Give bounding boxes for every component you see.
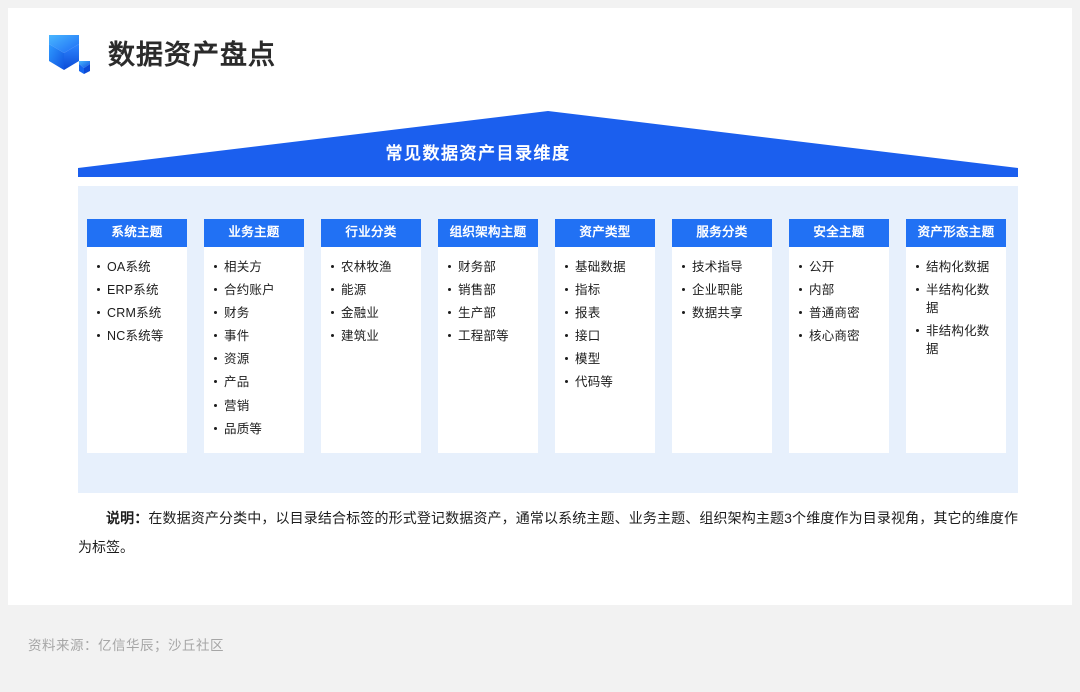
- list-item: 工程部等: [447, 327, 531, 345]
- list-item: 财务部: [447, 258, 531, 276]
- slide-card: 数据资产盘点 常见数据资产目录维度 系统主题 OA系统 ERP系统: [8, 8, 1072, 605]
- list-item: 农林牧渔: [330, 258, 414, 276]
- dimension-card-business[interactable]: 业务主题 相关方 合约账户 财务 事件 资源 产品 营销 品质等: [204, 219, 304, 453]
- dimensions-panel: 系统主题 OA系统 ERP系统 CRM系统 NC系统等 业务主题: [78, 186, 1018, 493]
- list-item: 金融业: [330, 304, 414, 322]
- list-item: ERP系统: [96, 281, 180, 299]
- list-item: 相关方: [213, 258, 297, 276]
- list-item: 普通商密: [798, 304, 882, 322]
- banner-title: 常见数据资产目录维度: [8, 145, 948, 162]
- dimension-card-header: 业务主题: [204, 219, 304, 247]
- dimension-card-header: 行业分类: [321, 219, 421, 247]
- slide-header: 数据资产盘点: [48, 33, 276, 77]
- list-item: 基础数据: [564, 258, 648, 276]
- note-paragraph: 说明：在数据资产分类中，以目录结合标签的形式登记数据资产，通常以系统主题、业务主…: [78, 504, 1018, 561]
- list-item: 数据共享: [681, 304, 765, 322]
- list-item: 非结构化数据: [915, 322, 999, 358]
- dimension-card-body: 公开 内部 普通商密 核心商密: [789, 247, 889, 453]
- dimension-card-body: 结构化数据 半结构化数据 非结构化数据: [906, 247, 1006, 453]
- dimension-card-organization[interactable]: 组织架构主题 财务部 销售部 生产部 工程部等: [438, 219, 538, 453]
- banner-zone: 常见数据资产目录维度: [8, 111, 1072, 179]
- dimension-card-body: 基础数据 指标 报表 接口 模型 代码等: [555, 247, 655, 453]
- list-item: 财务: [213, 304, 297, 322]
- list-item: 合约账户: [213, 281, 297, 299]
- list-item: 建筑业: [330, 327, 414, 345]
- source-line: 资料来源：亿信华辰；沙丘社区: [28, 634, 224, 654]
- list-item: NC系统等: [96, 327, 180, 345]
- list-item: OA系统: [96, 258, 180, 276]
- cube-logo-icon: [48, 33, 94, 77]
- list-item: 资源: [213, 350, 297, 368]
- list-item: 指标: [564, 281, 648, 299]
- list-item: 企业职能: [681, 281, 765, 299]
- dimension-card-header: 资产类型: [555, 219, 655, 247]
- dimension-card-header: 系统主题: [87, 219, 187, 247]
- list-item: 生产部: [447, 304, 531, 322]
- list-item: 事件: [213, 327, 297, 345]
- list-item: 核心商密: [798, 327, 882, 345]
- dimension-card-body: 财务部 销售部 生产部 工程部等: [438, 247, 538, 453]
- note-text: 在数据资产分类中，以目录结合标签的形式登记数据资产，通常以系统主题、业务主题、组…: [78, 510, 1018, 555]
- list-item: 代码等: [564, 373, 648, 391]
- dimension-card-header: 组织架构主题: [438, 219, 538, 247]
- dimension-card-asset-form[interactable]: 资产形态主题 结构化数据 半结构化数据 非结构化数据: [906, 219, 1006, 453]
- list-item: 报表: [564, 304, 648, 322]
- list-item: 结构化数据: [915, 258, 999, 276]
- dimension-card-header: 安全主题: [789, 219, 889, 247]
- dimension-card-industry[interactable]: 行业分类 农林牧渔 能源 金融业 建筑业: [321, 219, 421, 453]
- list-item: 营销: [213, 397, 297, 415]
- list-item: CRM系统: [96, 304, 180, 322]
- dimension-columns: 系统主题 OA系统 ERP系统 CRM系统 NC系统等 业务主题: [87, 219, 1009, 453]
- list-item: 接口: [564, 327, 648, 345]
- dimension-card-body: 技术指导 企业职能 数据共享: [672, 247, 772, 453]
- list-item: 产品: [213, 373, 297, 391]
- slide-page: 数据资产盘点 常见数据资产目录维度 系统主题 OA系统 ERP系统: [0, 0, 1080, 692]
- page-title: 数据资产盘点: [108, 42, 276, 69]
- dimension-card-service[interactable]: 服务分类 技术指导 企业职能 数据共享: [672, 219, 772, 453]
- dimension-card-asset-type[interactable]: 资产类型 基础数据 指标 报表 接口 模型 代码等: [555, 219, 655, 453]
- list-item: 模型: [564, 350, 648, 368]
- dimension-card-body: 相关方 合约账户 财务 事件 资源 产品 营销 品质等: [204, 247, 304, 453]
- dimension-card-body: 农林牧渔 能源 金融业 建筑业: [321, 247, 421, 453]
- dimension-card-body: OA系统 ERP系统 CRM系统 NC系统等: [87, 247, 187, 453]
- list-item: 内部: [798, 281, 882, 299]
- dimension-card-security[interactable]: 安全主题 公开 内部 普通商密 核心商密: [789, 219, 889, 453]
- dimension-card-header: 服务分类: [672, 219, 772, 247]
- dimension-card-system[interactable]: 系统主题 OA系统 ERP系统 CRM系统 NC系统等: [87, 219, 187, 453]
- list-item: 公开: [798, 258, 882, 276]
- list-item: 半结构化数据: [915, 281, 999, 317]
- note-label: 说明：: [106, 510, 148, 526]
- list-item: 技术指导: [681, 258, 765, 276]
- list-item: 品质等: [213, 420, 297, 438]
- list-item: 销售部: [447, 281, 531, 299]
- list-item: 能源: [330, 281, 414, 299]
- dimension-card-header: 资产形态主题: [906, 219, 1006, 247]
